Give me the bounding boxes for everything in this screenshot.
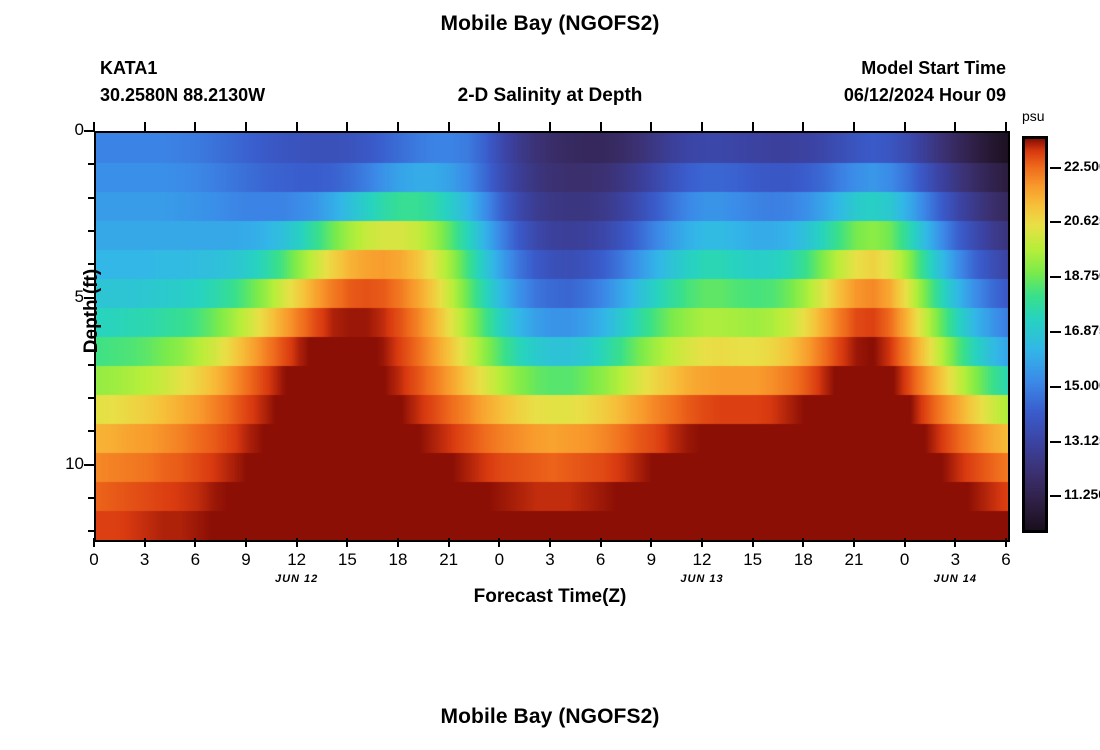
- colorbar-tick: [1050, 386, 1061, 388]
- x-axis-tick-top: [954, 122, 956, 131]
- x-axis-tick-label: 0: [885, 550, 925, 570]
- colorbar-tick: [1050, 441, 1061, 443]
- colorbar-tick-label: 11.250: [1064, 486, 1100, 502]
- x-axis-tick-top: [296, 122, 298, 131]
- x-axis-tick-label: 6: [986, 550, 1026, 570]
- colorbar-tick-label: 20.625: [1064, 212, 1100, 228]
- x-axis-tick-top: [346, 122, 348, 131]
- x-axis-tick-label: 9: [226, 550, 266, 570]
- station-name: KATA1: [100, 58, 157, 79]
- x-axis-tick-label: 0: [479, 550, 519, 570]
- x-axis-label: Forecast Time(Z): [0, 586, 1100, 608]
- x-axis-tick-top: [752, 122, 754, 131]
- y-axis-label: Depth (ft): [81, 211, 103, 411]
- x-axis-tick-label: 3: [935, 550, 975, 570]
- x-axis-tick-top: [93, 122, 95, 131]
- x-axis-tick-top: [701, 122, 703, 131]
- x-axis-tick-label: 6: [581, 550, 621, 570]
- y-axis-tick-label: 5: [36, 287, 84, 307]
- colorbar: [1022, 136, 1048, 533]
- x-axis-tick-top: [448, 122, 450, 131]
- colorbar-gradient: [1025, 139, 1045, 530]
- colorbar-tick-label: 15.000: [1064, 377, 1100, 393]
- y-axis-tick: [84, 464, 94, 466]
- x-axis-tick-label: 3: [125, 550, 165, 570]
- x-axis-tick-top: [600, 122, 602, 131]
- x-axis-tick-top: [245, 122, 247, 131]
- x-axis-date-label: JUN 13: [657, 573, 747, 585]
- x-axis-tick-label: 18: [783, 550, 823, 570]
- bottom-title: Mobile Bay (NGOFS2): [0, 705, 1100, 729]
- x-axis-tick-top: [904, 122, 906, 131]
- x-axis-tick-top: [144, 122, 146, 131]
- x-axis-tick-top: [194, 122, 196, 131]
- x-axis-tick-label: 9: [631, 550, 671, 570]
- x-axis-tick-top: [397, 122, 399, 131]
- colorbar-tick-label: 13.125: [1064, 432, 1100, 448]
- colorbar-tick: [1050, 221, 1061, 223]
- salinity-heatmap-plot: [94, 131, 1010, 542]
- x-axis-date-label: JUN 14: [910, 573, 1000, 585]
- x-axis-tick-label: 3: [530, 550, 570, 570]
- colorbar-tick: [1050, 167, 1061, 169]
- colorbar-unit-label: psu: [1022, 108, 1045, 124]
- x-axis-tick-top: [802, 122, 804, 131]
- y-axis-tick: [84, 130, 94, 132]
- y-axis-tick-label: 0: [36, 120, 84, 140]
- colorbar-tick: [1050, 331, 1061, 333]
- x-axis-tick-label: 15: [733, 550, 773, 570]
- x-axis-tick-top: [650, 122, 652, 131]
- colorbar-tick-label: 16.875: [1064, 322, 1100, 338]
- colorbar-tick-label: 22.500: [1064, 158, 1100, 174]
- x-axis-date-label: JUN 12: [252, 573, 342, 585]
- colorbar-tick-label: 18.750: [1064, 267, 1100, 283]
- x-axis-tick-label: 18: [378, 550, 418, 570]
- x-axis-tick-label: 12: [682, 550, 722, 570]
- model-start-time-value: 06/12/2024 Hour 09: [844, 85, 1006, 106]
- x-axis-tick-label: 15: [327, 550, 367, 570]
- model-start-time-label: Model Start Time: [861, 58, 1006, 79]
- x-axis-tick-label: 6: [175, 550, 215, 570]
- heatmap-canvas: [96, 133, 1008, 540]
- x-axis-tick-top: [1005, 122, 1007, 131]
- x-axis-tick-top: [853, 122, 855, 131]
- x-axis-tick-label: 0: [74, 550, 114, 570]
- x-axis-tick-label: 12: [277, 550, 317, 570]
- x-axis-tick-top: [498, 122, 500, 131]
- x-axis-tick-label: 21: [834, 550, 874, 570]
- y-axis-tick-label: 10: [36, 454, 84, 474]
- x-axis-tick-label: 21: [429, 550, 469, 570]
- colorbar-tick: [1050, 495, 1061, 497]
- x-axis-tick-top: [549, 122, 551, 131]
- colorbar-tick: [1050, 276, 1061, 278]
- page-title: Mobile Bay (NGOFS2): [0, 12, 1100, 36]
